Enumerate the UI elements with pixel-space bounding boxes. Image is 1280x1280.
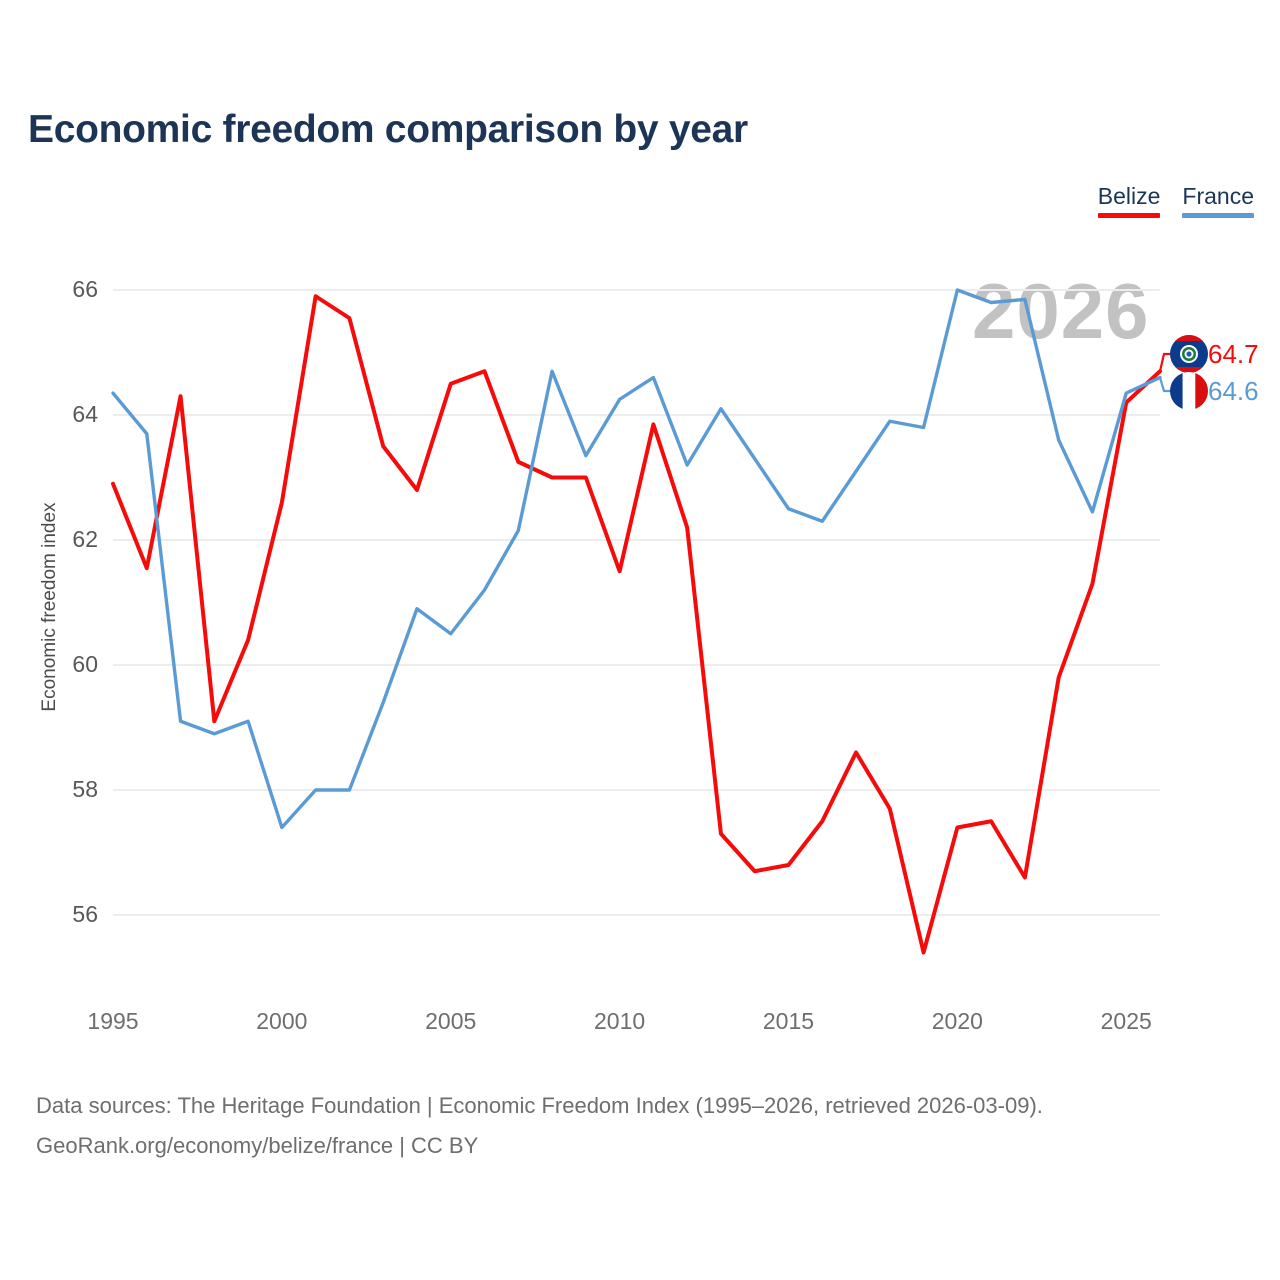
gridlines: [113, 290, 1160, 915]
y-tick-label: 64: [28, 401, 98, 428]
footer-sources-line: Data sources: The Heritage Foundation | …: [36, 1086, 1043, 1126]
belize-flag-icon: [1170, 335, 1208, 373]
end-label-belize-value: 64.7: [1208, 339, 1259, 369]
series-line-belize: [113, 296, 1160, 952]
footer-attribution-line: GeoRank.org/economy/belize/france | CC B…: [36, 1126, 1043, 1166]
y-tick-label: 58: [28, 776, 98, 803]
france-flag-icon: [1170, 372, 1208, 410]
chart-page: Economic freedom comparison by year Beli…: [0, 0, 1280, 1280]
x-tick-label: 2015: [728, 1008, 848, 1035]
x-tick-label: 2005: [391, 1008, 511, 1035]
x-tick-label: 1995: [53, 1008, 173, 1035]
y-tick-label: 56: [28, 901, 98, 928]
end-label-france: 64.6: [1208, 376, 1259, 407]
x-tick-label: 2010: [560, 1008, 680, 1035]
y-axis-label: Economic freedom index: [39, 497, 61, 717]
x-tick-label: 2000: [222, 1008, 342, 1035]
series-lines: [113, 290, 1160, 953]
x-tick-label: 2020: [897, 1008, 1017, 1035]
y-tick-label: 66: [28, 276, 98, 303]
end-label-france-value: 64.6: [1208, 376, 1259, 406]
end-label-belize: 64.7: [1208, 339, 1259, 370]
x-tick-label: 2025: [1066, 1008, 1186, 1035]
footer: Data sources: The Heritage Foundation | …: [36, 1086, 1043, 1166]
